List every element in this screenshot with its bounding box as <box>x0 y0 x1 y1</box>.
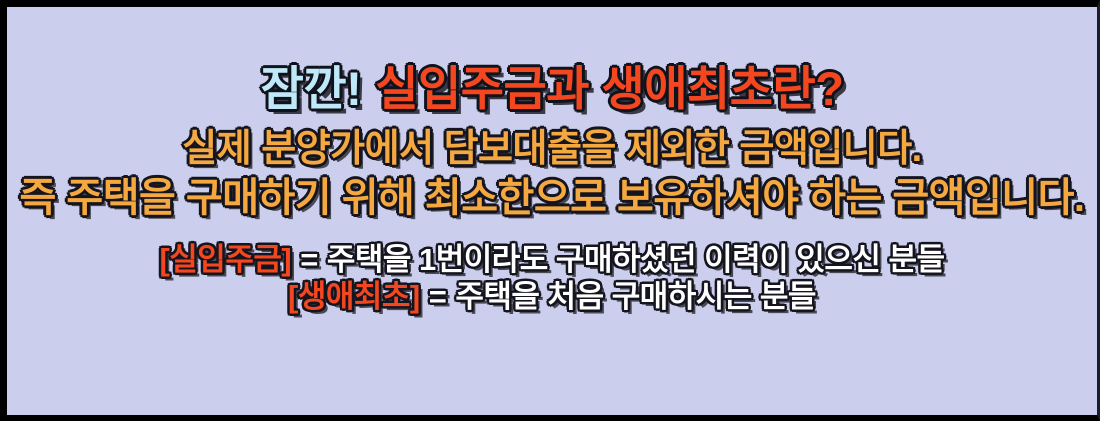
definition-equals-sign: = <box>300 244 318 275</box>
title-question-phrase: 실입주금과 생애최초란? <box>375 65 843 112</box>
definition-equals-sign: = <box>429 281 447 312</box>
definition-description: 주택을 1번이라도 구매하셨던 이력이 있으신 분들 <box>327 244 945 275</box>
definition-term: [생애최초] <box>288 281 420 312</box>
infographic-card: 잠깐! 실입주금과 생애최초란? 실제 분양가에서 담보대출을 제외한 금액입니… <box>0 0 1100 421</box>
definition-item: [생애최초] = 주택을 처음 구매하시는 분들 <box>288 281 816 312</box>
definition-description: 주택을 처음 구매하시는 분들 <box>455 281 816 312</box>
page-title: 잠깐! 실입주금과 생애최초란? <box>261 65 844 112</box>
body-text-line-2: 즉 주택을 구매하기 위해 최소한으로 보유하셔야 하는 금액입니다. <box>19 178 1084 218</box>
definition-term: [실입주금] <box>159 244 291 275</box>
title-attention-word: 잠깐! <box>261 65 362 112</box>
body-text-line-1: 실제 분양가에서 담보대출을 제외한 금액입니다. <box>182 130 922 168</box>
definition-item: [실입주금] = 주택을 1번이라도 구매하셨던 이력이 있으신 분들 <box>159 244 944 275</box>
